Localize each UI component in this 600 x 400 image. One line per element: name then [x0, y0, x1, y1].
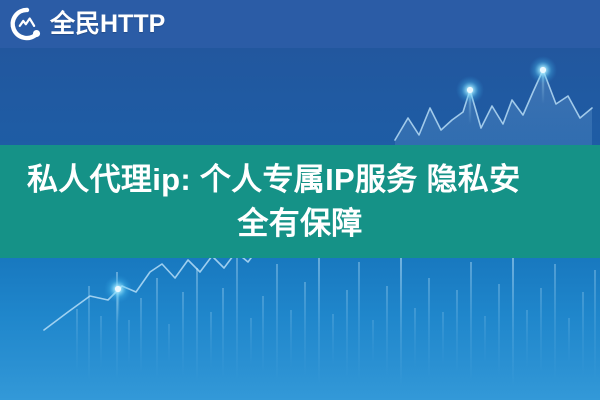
brand-logo-icon[interactable]	[10, 7, 44, 41]
site-header: 全民HTTP	[0, 0, 600, 48]
chart-bars-group	[76, 258, 596, 386]
page-title-line-1: 私人代理ip: 个人专属IP服务 隐私安	[0, 158, 520, 202]
banner-image: 全民HTTP 私人代理ip: 个人专属IP服务 隐私安 全有保障	[0, 0, 600, 400]
page-title-line-2: 全有保障	[237, 202, 362, 246]
title-band: 私人代理ip: 个人专属IP服务 隐私安 全有保障	[0, 145, 600, 258]
brand-name: 全民HTTP	[50, 12, 165, 37]
